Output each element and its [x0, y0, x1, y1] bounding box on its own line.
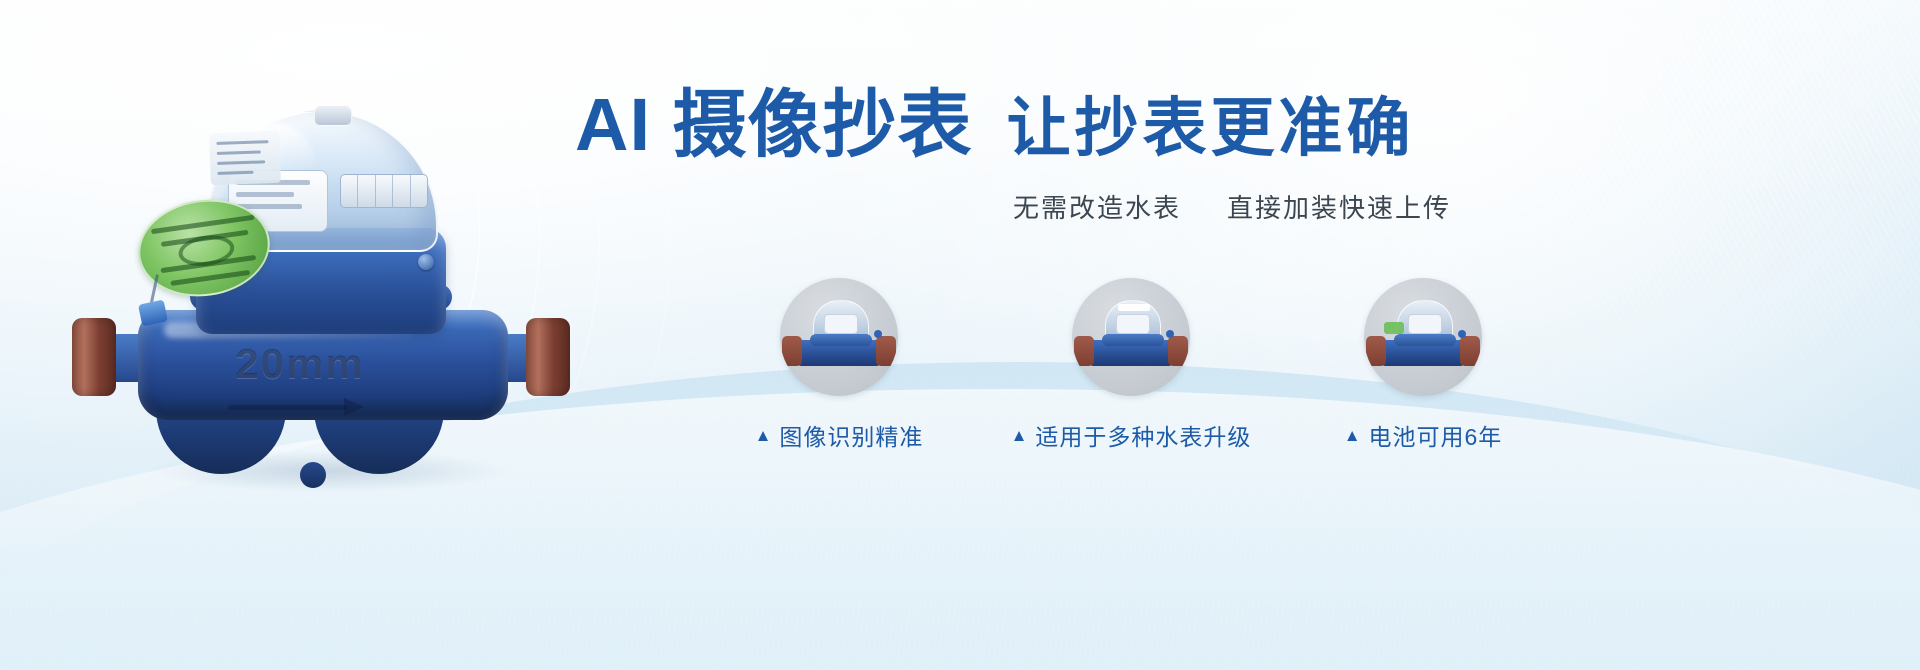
- feature-caption-3: ▲ 电池可用6年: [1344, 418, 1503, 452]
- feature-thumbnail-1[interactable]: [780, 278, 898, 396]
- headline: AI 摄像抄表 让抄表更准确: [575, 88, 1525, 162]
- feature-label-2: 适用于多种水表升级: [1035, 418, 1251, 452]
- headline-secondary: 让抄表更准确: [1007, 96, 1415, 160]
- dome-top-nub: [314, 106, 352, 126]
- size-engraving: 20mm: [170, 340, 430, 388]
- feature-item-2[interactable]: ▲ 适用于多种水表升级: [1072, 278, 1190, 452]
- triangle-marker-icon: ▲: [755, 427, 773, 444]
- register-line: [236, 192, 294, 197]
- feature-item-3[interactable]: ▲ 电池可用6年: [1364, 278, 1482, 452]
- feature-item-1[interactable]: ▲ 图像识别精准: [780, 278, 898, 452]
- feature-label-1: 图像识别精准: [779, 418, 923, 452]
- feature-thumbnail-list: ▲ 图像识别精准 ▲ 适用于多种水表升级: [780, 278, 1482, 452]
- feature-label-3: 电池可用6年: [1369, 418, 1503, 452]
- feature-caption-1: ▲ 图像识别精准: [755, 418, 924, 452]
- triangle-marker-icon: ▲: [1011, 427, 1029, 444]
- meter-drain-plug: [300, 462, 326, 488]
- subheadline: 无需改造水表 直接加装快速上传: [1013, 188, 1525, 225]
- spec-label: [209, 131, 281, 185]
- promo-banner: 20mm NSF AI 摄像抄表 让抄表更准: [0, 0, 1920, 670]
- outlet-nut: [526, 318, 570, 396]
- feature-thumbnail-2[interactable]: [1072, 278, 1190, 396]
- feature-thumbnail-3[interactable]: [1364, 278, 1482, 396]
- banner-copy: AI 摄像抄表 让抄表更准确 无需改造水表 直接加装快速上传: [575, 88, 1525, 225]
- meter-odometer: [340, 174, 428, 208]
- triangle-marker-icon: ▲: [1344, 427, 1362, 444]
- inlet-nut: [72, 318, 116, 396]
- headline-main: AI 摄像抄表: [575, 88, 973, 162]
- feature-caption-2: ▲ 适用于多种水表升级: [1011, 418, 1252, 452]
- subheadline-right: 直接加装快速上传: [1227, 188, 1451, 225]
- hero-product-image: 20mm NSF: [78, 78, 578, 498]
- subheadline-left: 无需改造水表: [1013, 188, 1181, 225]
- flow-direction-arrow-icon: [228, 398, 378, 416]
- cap-screw: [418, 254, 434, 270]
